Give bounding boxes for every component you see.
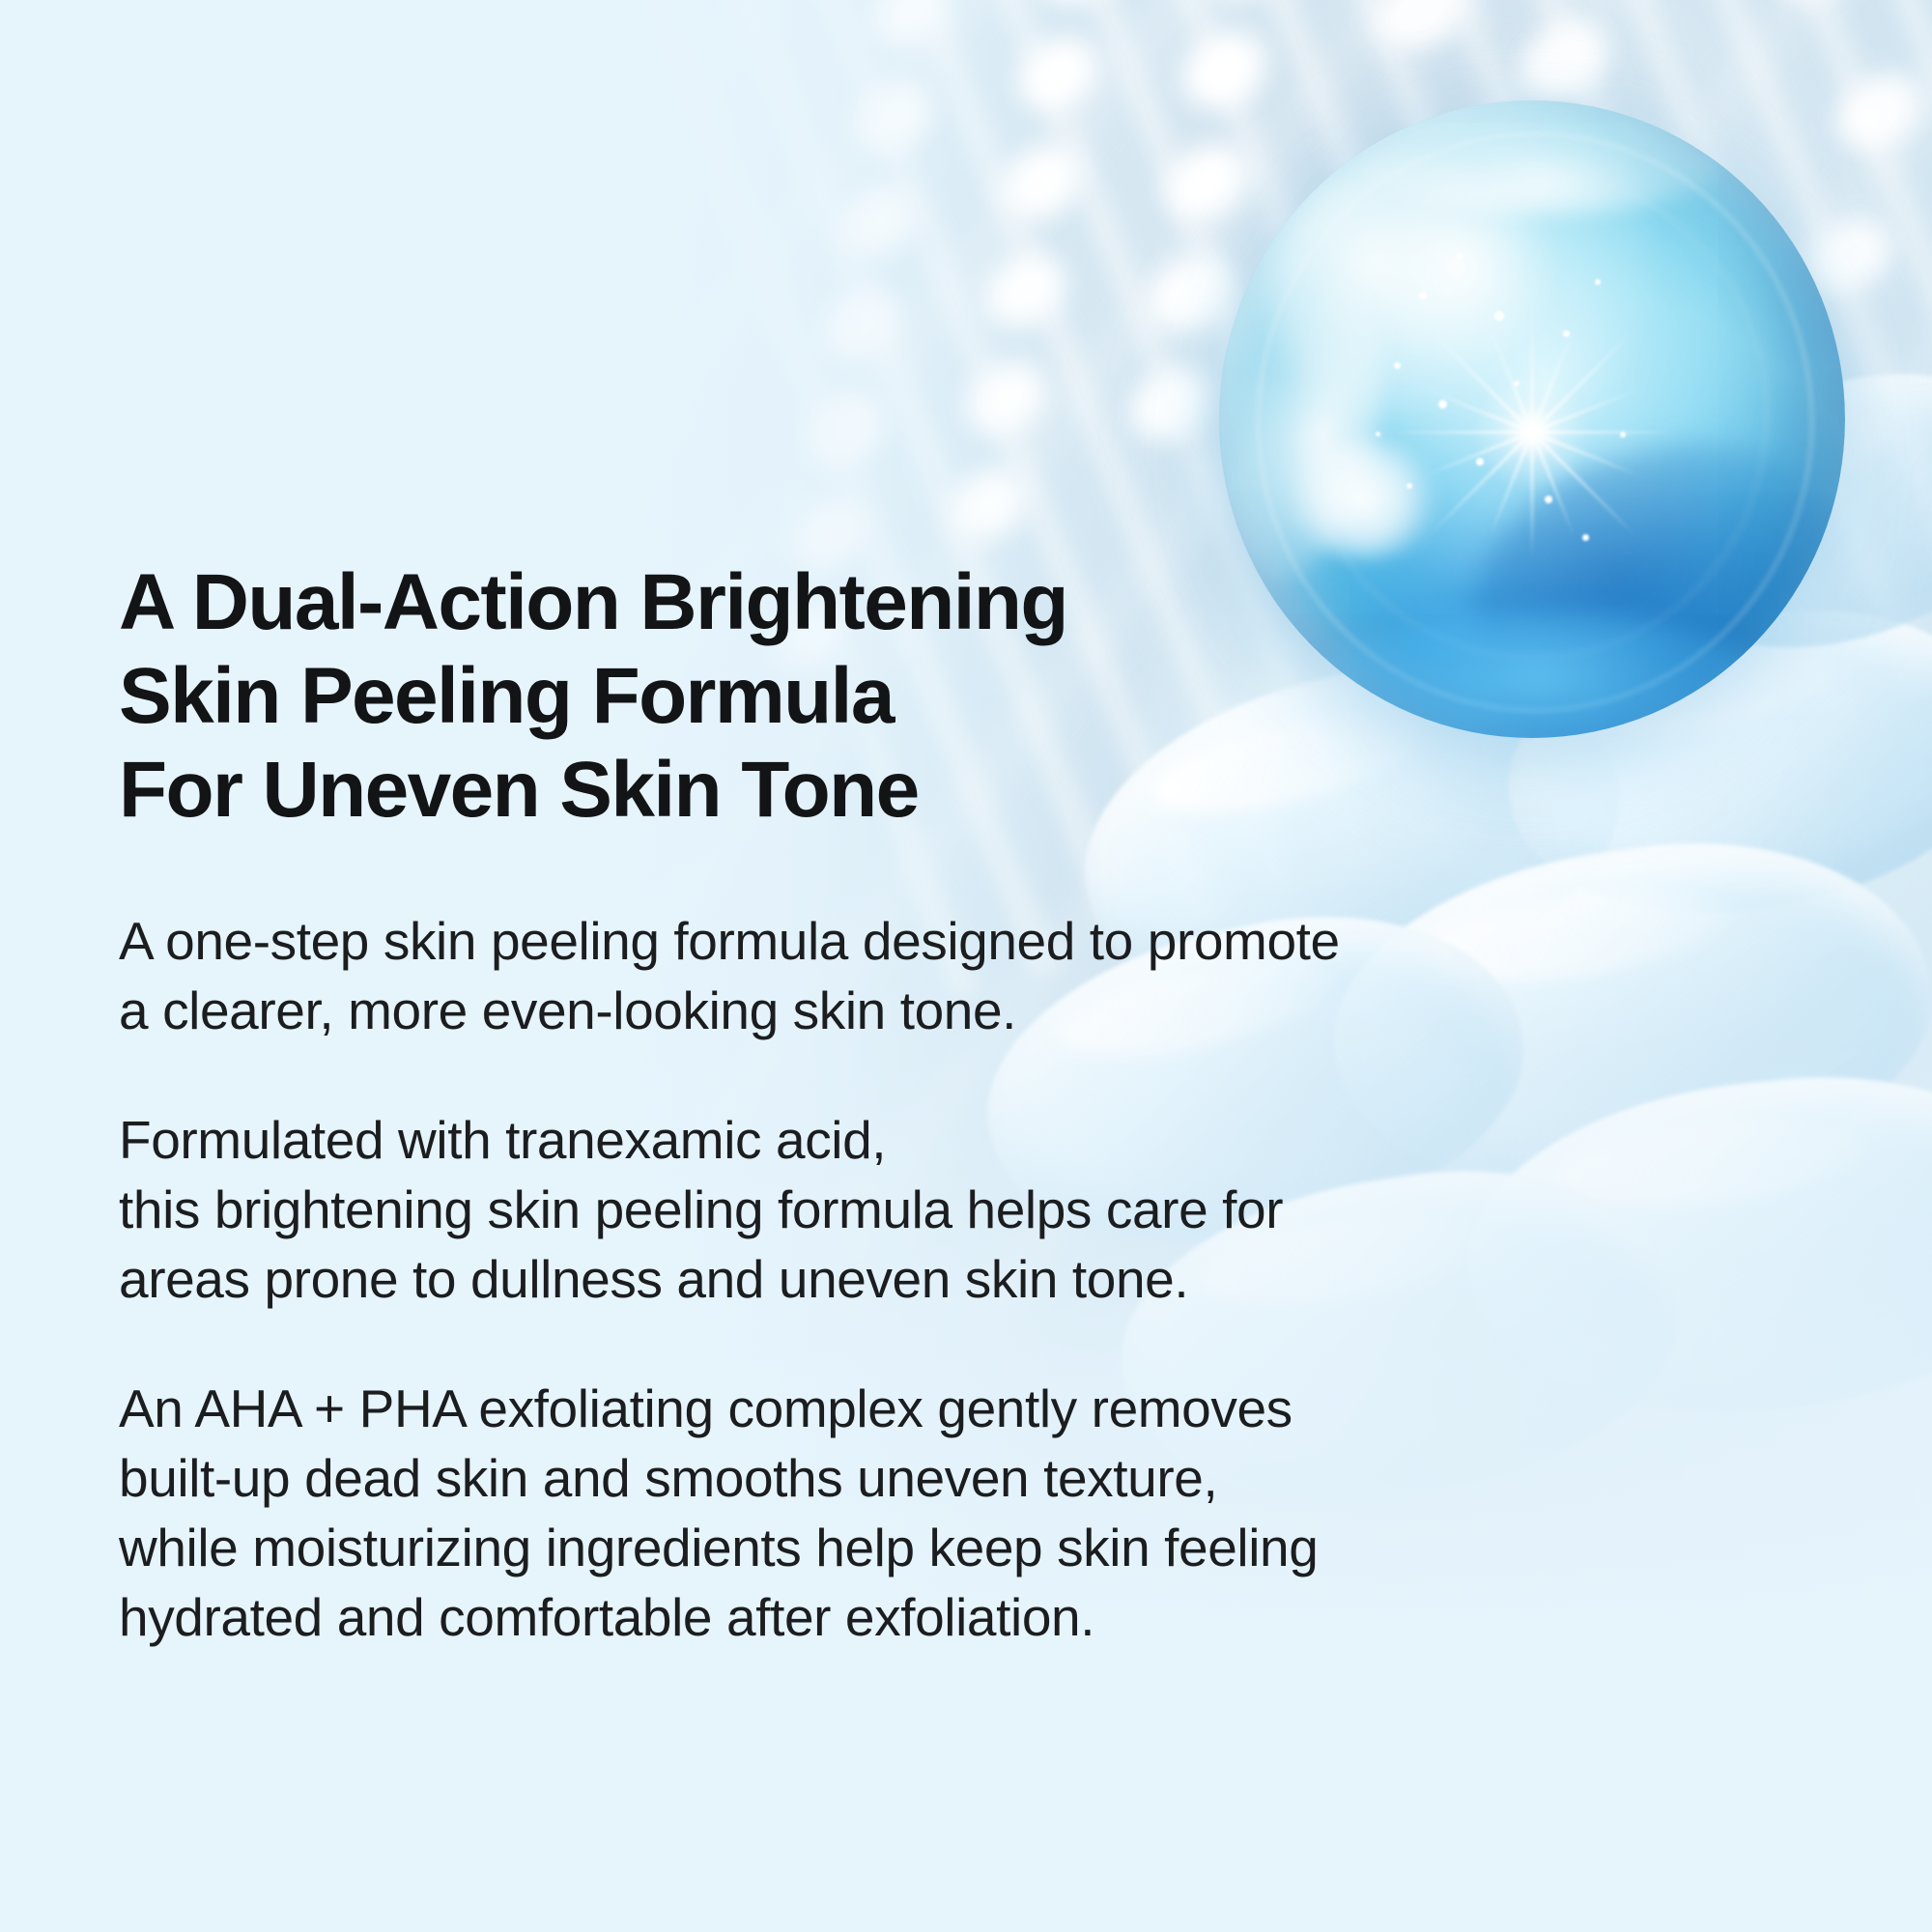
headline-line-2: Skin Peeling Formula <box>119 649 1761 743</box>
paragraph-intro: A one-step skin peeling formula designed… <box>119 906 1761 1045</box>
paragraph-line: A one-step skin peeling formula designed… <box>119 906 1761 976</box>
body-copy: A one-step skin peeling formula designed… <box>119 906 1761 1652</box>
paragraph-line: while moisturizing ingredients help keep… <box>119 1513 1761 1582</box>
paragraph-line: a clearer, more even-looking skin tone. <box>119 976 1761 1045</box>
paragraph-aha-pha-complex: An AHA + PHA exfoliating complex gently … <box>119 1374 1761 1652</box>
paragraph-line: Formulated with tranexamic acid, <box>119 1105 1761 1175</box>
paragraph-line: hydrated and comfortable after exfoliati… <box>119 1582 1761 1652</box>
headline-line-3: For Uneven Skin Tone <box>119 743 1761 837</box>
paragraph-line: areas prone to dullness and uneven skin … <box>119 1244 1761 1314</box>
copy-block: A Dual-Action Brightening Skin Peeling F… <box>119 0 1761 1652</box>
page-title: A Dual-Action Brightening Skin Peeling F… <box>119 0 1761 837</box>
paragraph-line: built-up dead skin and smooths uneven te… <box>119 1443 1761 1513</box>
paragraph-line: An AHA + PHA exfoliating complex gently … <box>119 1374 1761 1443</box>
headline-line-1: A Dual-Action Brightening <box>119 555 1761 649</box>
promo-canvas: A Dual-Action Brightening Skin Peeling F… <box>0 0 1932 1932</box>
paragraph-tranexamic-acid: Formulated with tranexamic acid, this br… <box>119 1105 1761 1314</box>
bokeh-dot <box>1756 0 1880 16</box>
paragraph-line: this brightening skin peeling formula he… <box>119 1175 1761 1244</box>
